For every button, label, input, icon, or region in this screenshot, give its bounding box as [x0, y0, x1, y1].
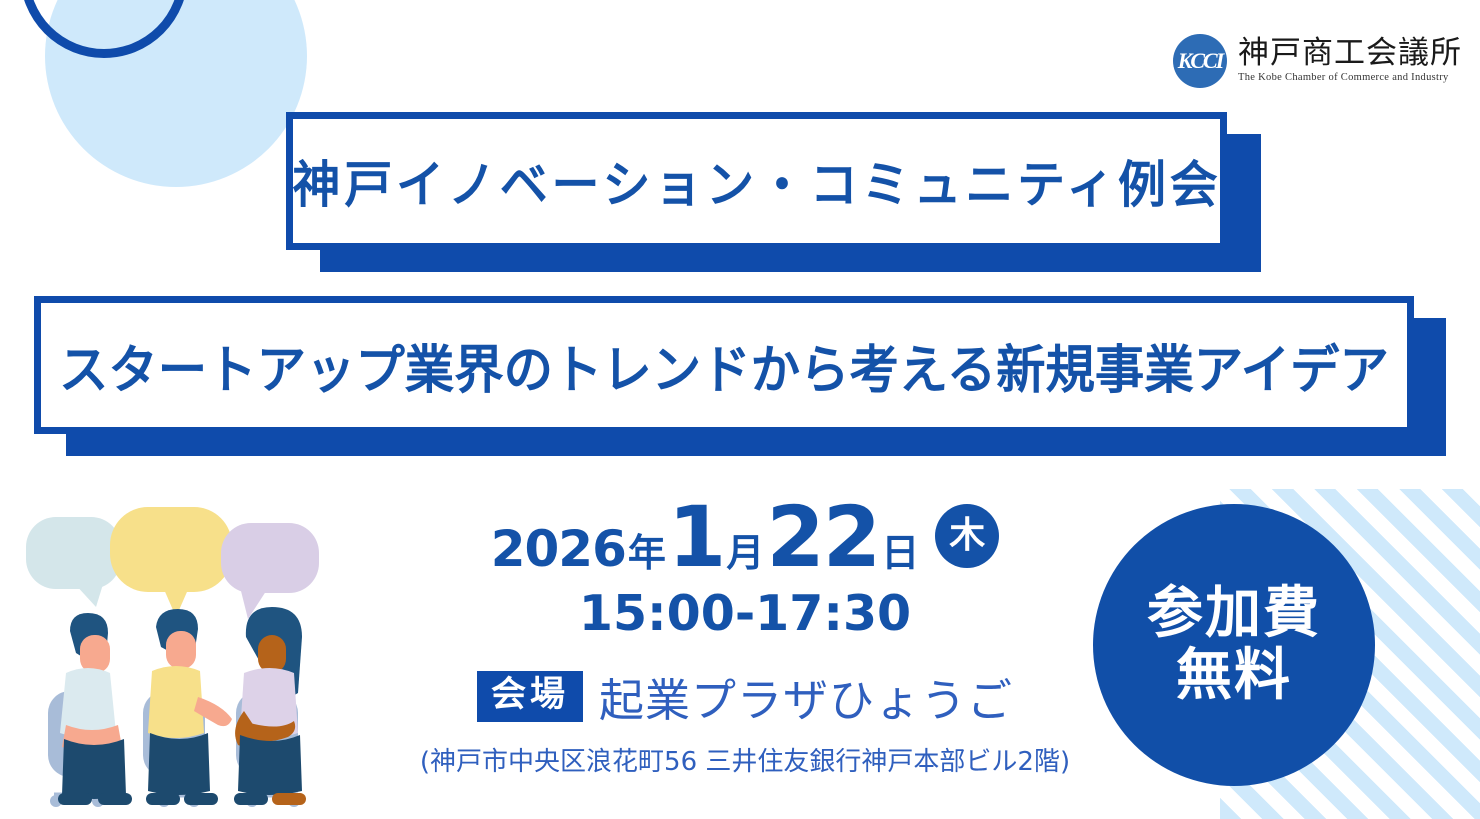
venue-name: 起業プラザひょうご	[599, 664, 1013, 729]
page-title: 神戸イノベーション・コミュニティ例会	[292, 145, 1221, 217]
event-time: 15:00-17:30	[395, 585, 1095, 642]
person-center	[146, 609, 232, 805]
fee-label: 参加費	[1147, 583, 1321, 645]
person-right	[234, 607, 306, 805]
event-date: 2026 年 1 月 22 日 木	[395, 495, 1095, 577]
fee-value: 無料	[1176, 645, 1292, 707]
page-subtitle: スタートアップ業界のトレンドから考える新規事業アイデア	[59, 328, 1389, 403]
date-year: 2026	[491, 524, 626, 574]
date-day: 22	[766, 495, 879, 579]
date-month-unit: 月	[726, 534, 764, 572]
date-year-unit: 年	[628, 534, 666, 572]
event-subtitle-block: スタートアップ業界のトレンドから考える新規事業アイデア	[34, 296, 1446, 456]
date-month: 1	[668, 495, 724, 579]
organization-name-jp: 神戸商工会議所	[1238, 38, 1462, 69]
event-title-box: 神戸イノベーション・コミュニティ例会	[286, 112, 1227, 250]
organization-name-block: 神戸商工会議所 The Kobe Chamber of Commerce and…	[1238, 38, 1462, 84]
date-day-unit: 日	[881, 534, 919, 572]
person-left	[58, 613, 132, 805]
event-flyer: KCCI 神戸商工会議所 The Kobe Chamber of Commerc…	[0, 0, 1480, 819]
speech-bubble-right	[221, 523, 319, 619]
organization-logo: KCCI 神戸商工会議所 The Kobe Chamber of Commerc…	[1173, 34, 1462, 88]
event-venue: 会場 起業プラザひょうご	[395, 664, 1095, 729]
speech-bubble-left	[26, 517, 121, 607]
date-day-of-week-badge: 木	[935, 504, 999, 568]
event-subtitle-box: スタートアップ業界のトレンドから考える新規事業アイデア	[34, 296, 1414, 434]
participation-fee-badge: 参加費 無料	[1093, 504, 1375, 786]
three-people-discussion-illustration	[18, 495, 368, 815]
organization-name-en: The Kobe Chamber of Commerce and Industr…	[1238, 73, 1462, 84]
venue-label-badge: 会場	[477, 671, 583, 723]
event-details: 2026 年 1 月 22 日 木 15:00-17:30 会場 起業プラザひょ…	[395, 495, 1095, 778]
kcci-logo-text: KCCI	[1178, 48, 1223, 74]
event-title-block: 神戸イノベーション・コミュニティ例会	[286, 112, 1261, 272]
kcci-logo-icon: KCCI	[1173, 34, 1227, 88]
speech-bubble-center	[110, 507, 232, 617]
venue-address: (神戸市中央区浪花町56 三井住友銀行神戸本部ビル2階)	[395, 741, 1095, 778]
